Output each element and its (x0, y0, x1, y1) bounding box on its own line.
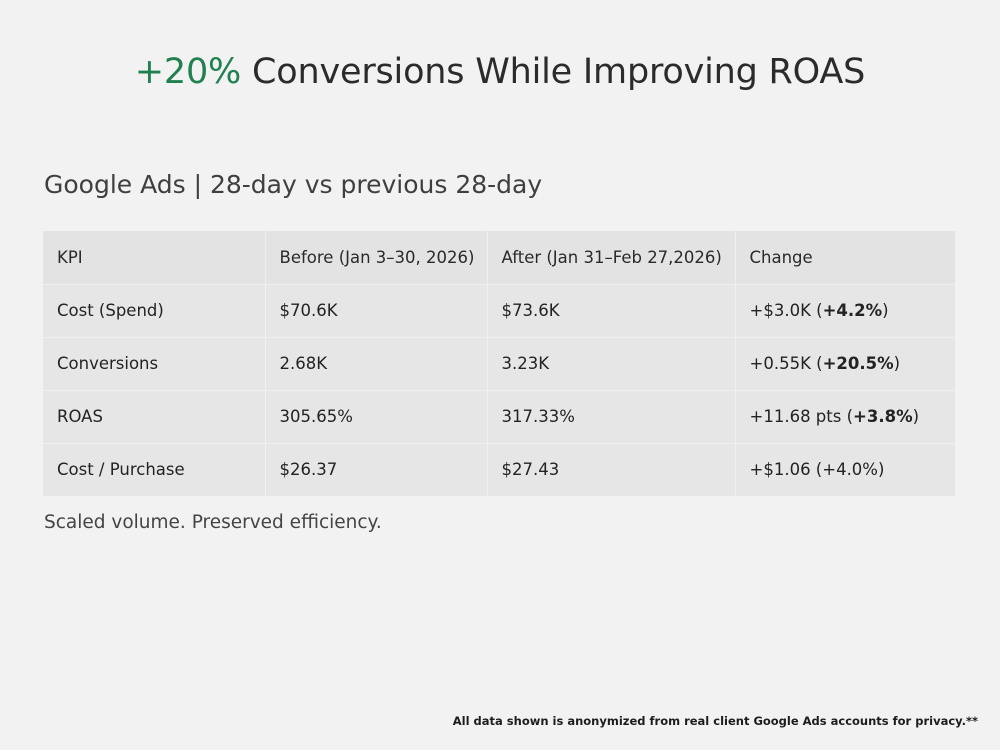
slide-canvas: +20% Conversions While Improving ROAS Go… (0, 0, 1000, 750)
column-header-kpi: KPI (43, 231, 265, 284)
change-percent: +3.8% (853, 407, 913, 426)
change-percent: +20.5% (823, 354, 894, 373)
cell-before-value: 2.68K (265, 337, 487, 390)
column-header-after: After (Jan 31–Feb 27,2026) (487, 231, 735, 284)
change-suffix: ) (882, 301, 888, 320)
privacy-footnote: All data shown is anonymized from real c… (453, 714, 978, 728)
cell-kpi-name: Cost (Spend) (43, 284, 265, 337)
kpi-comparison-table: KPI Before (Jan 3–30, 2026) After (Jan 3… (43, 231, 955, 496)
summary-caption: Scaled volume. Preserved efficiency. (44, 512, 382, 533)
cell-kpi-name: Conversions (43, 337, 265, 390)
table-header: KPI Before (Jan 3–30, 2026) After (Jan 3… (43, 231, 955, 284)
table-row: Cost (Spend) $70.6K $73.6K +$3.0K (+4.2%… (43, 284, 955, 337)
cell-change-value: +0.55K (+20.5%) (735, 337, 955, 390)
table-body: Cost (Spend) $70.6K $73.6K +$3.0K (+4.2%… (43, 284, 955, 496)
table-row: Cost / Purchase $26.37 $27.43 +$1.06 (+4… (43, 443, 955, 496)
cell-before-value: 305.65% (265, 390, 487, 443)
title-accent-metric: +20% (135, 52, 241, 92)
cell-kpi-name: ROAS (43, 390, 265, 443)
table-row: Conversions 2.68K 3.23K +0.55K (+20.5%) (43, 337, 955, 390)
kpi-table-container: KPI Before (Jan 3–30, 2026) After (Jan 3… (43, 231, 955, 496)
table-row: ROAS 305.65% 317.33% +11.68 pts (+3.8%) (43, 390, 955, 443)
change-prefix: +$3.0K ( (750, 301, 823, 320)
change-suffix: ) (894, 354, 900, 373)
change-percent: +4.2% (823, 301, 883, 320)
cell-before-value: $26.37 (265, 443, 487, 496)
cell-before-value: $70.6K (265, 284, 487, 337)
change-suffix: ) (913, 407, 919, 426)
change-prefix: +0.55K ( (750, 354, 823, 373)
cell-change-value: +$3.0K (+4.2%) (735, 284, 955, 337)
cell-kpi-name: Cost / Purchase (43, 443, 265, 496)
change-prefix: +$1.06 (+4.0%) (750, 460, 885, 479)
cell-after-value: $27.43 (487, 443, 735, 496)
cell-change-value: +11.68 pts (+3.8%) (735, 390, 955, 443)
cell-after-value: 3.23K (487, 337, 735, 390)
title-text: Conversions While Improving ROAS (241, 52, 865, 92)
cell-after-value: 317.33% (487, 390, 735, 443)
page-title: +20% Conversions While Improving ROAS (0, 52, 1000, 92)
cell-change-value: +$1.06 (+4.0%) (735, 443, 955, 496)
subtitle-source-and-range: Google Ads | 28-day vs previous 28-day (44, 170, 542, 199)
table-header-row: KPI Before (Jan 3–30, 2026) After (Jan 3… (43, 231, 955, 284)
column-header-before: Before (Jan 3–30, 2026) (265, 231, 487, 284)
cell-after-value: $73.6K (487, 284, 735, 337)
change-prefix: +11.68 pts ( (750, 407, 854, 426)
column-header-change: Change (735, 231, 955, 284)
